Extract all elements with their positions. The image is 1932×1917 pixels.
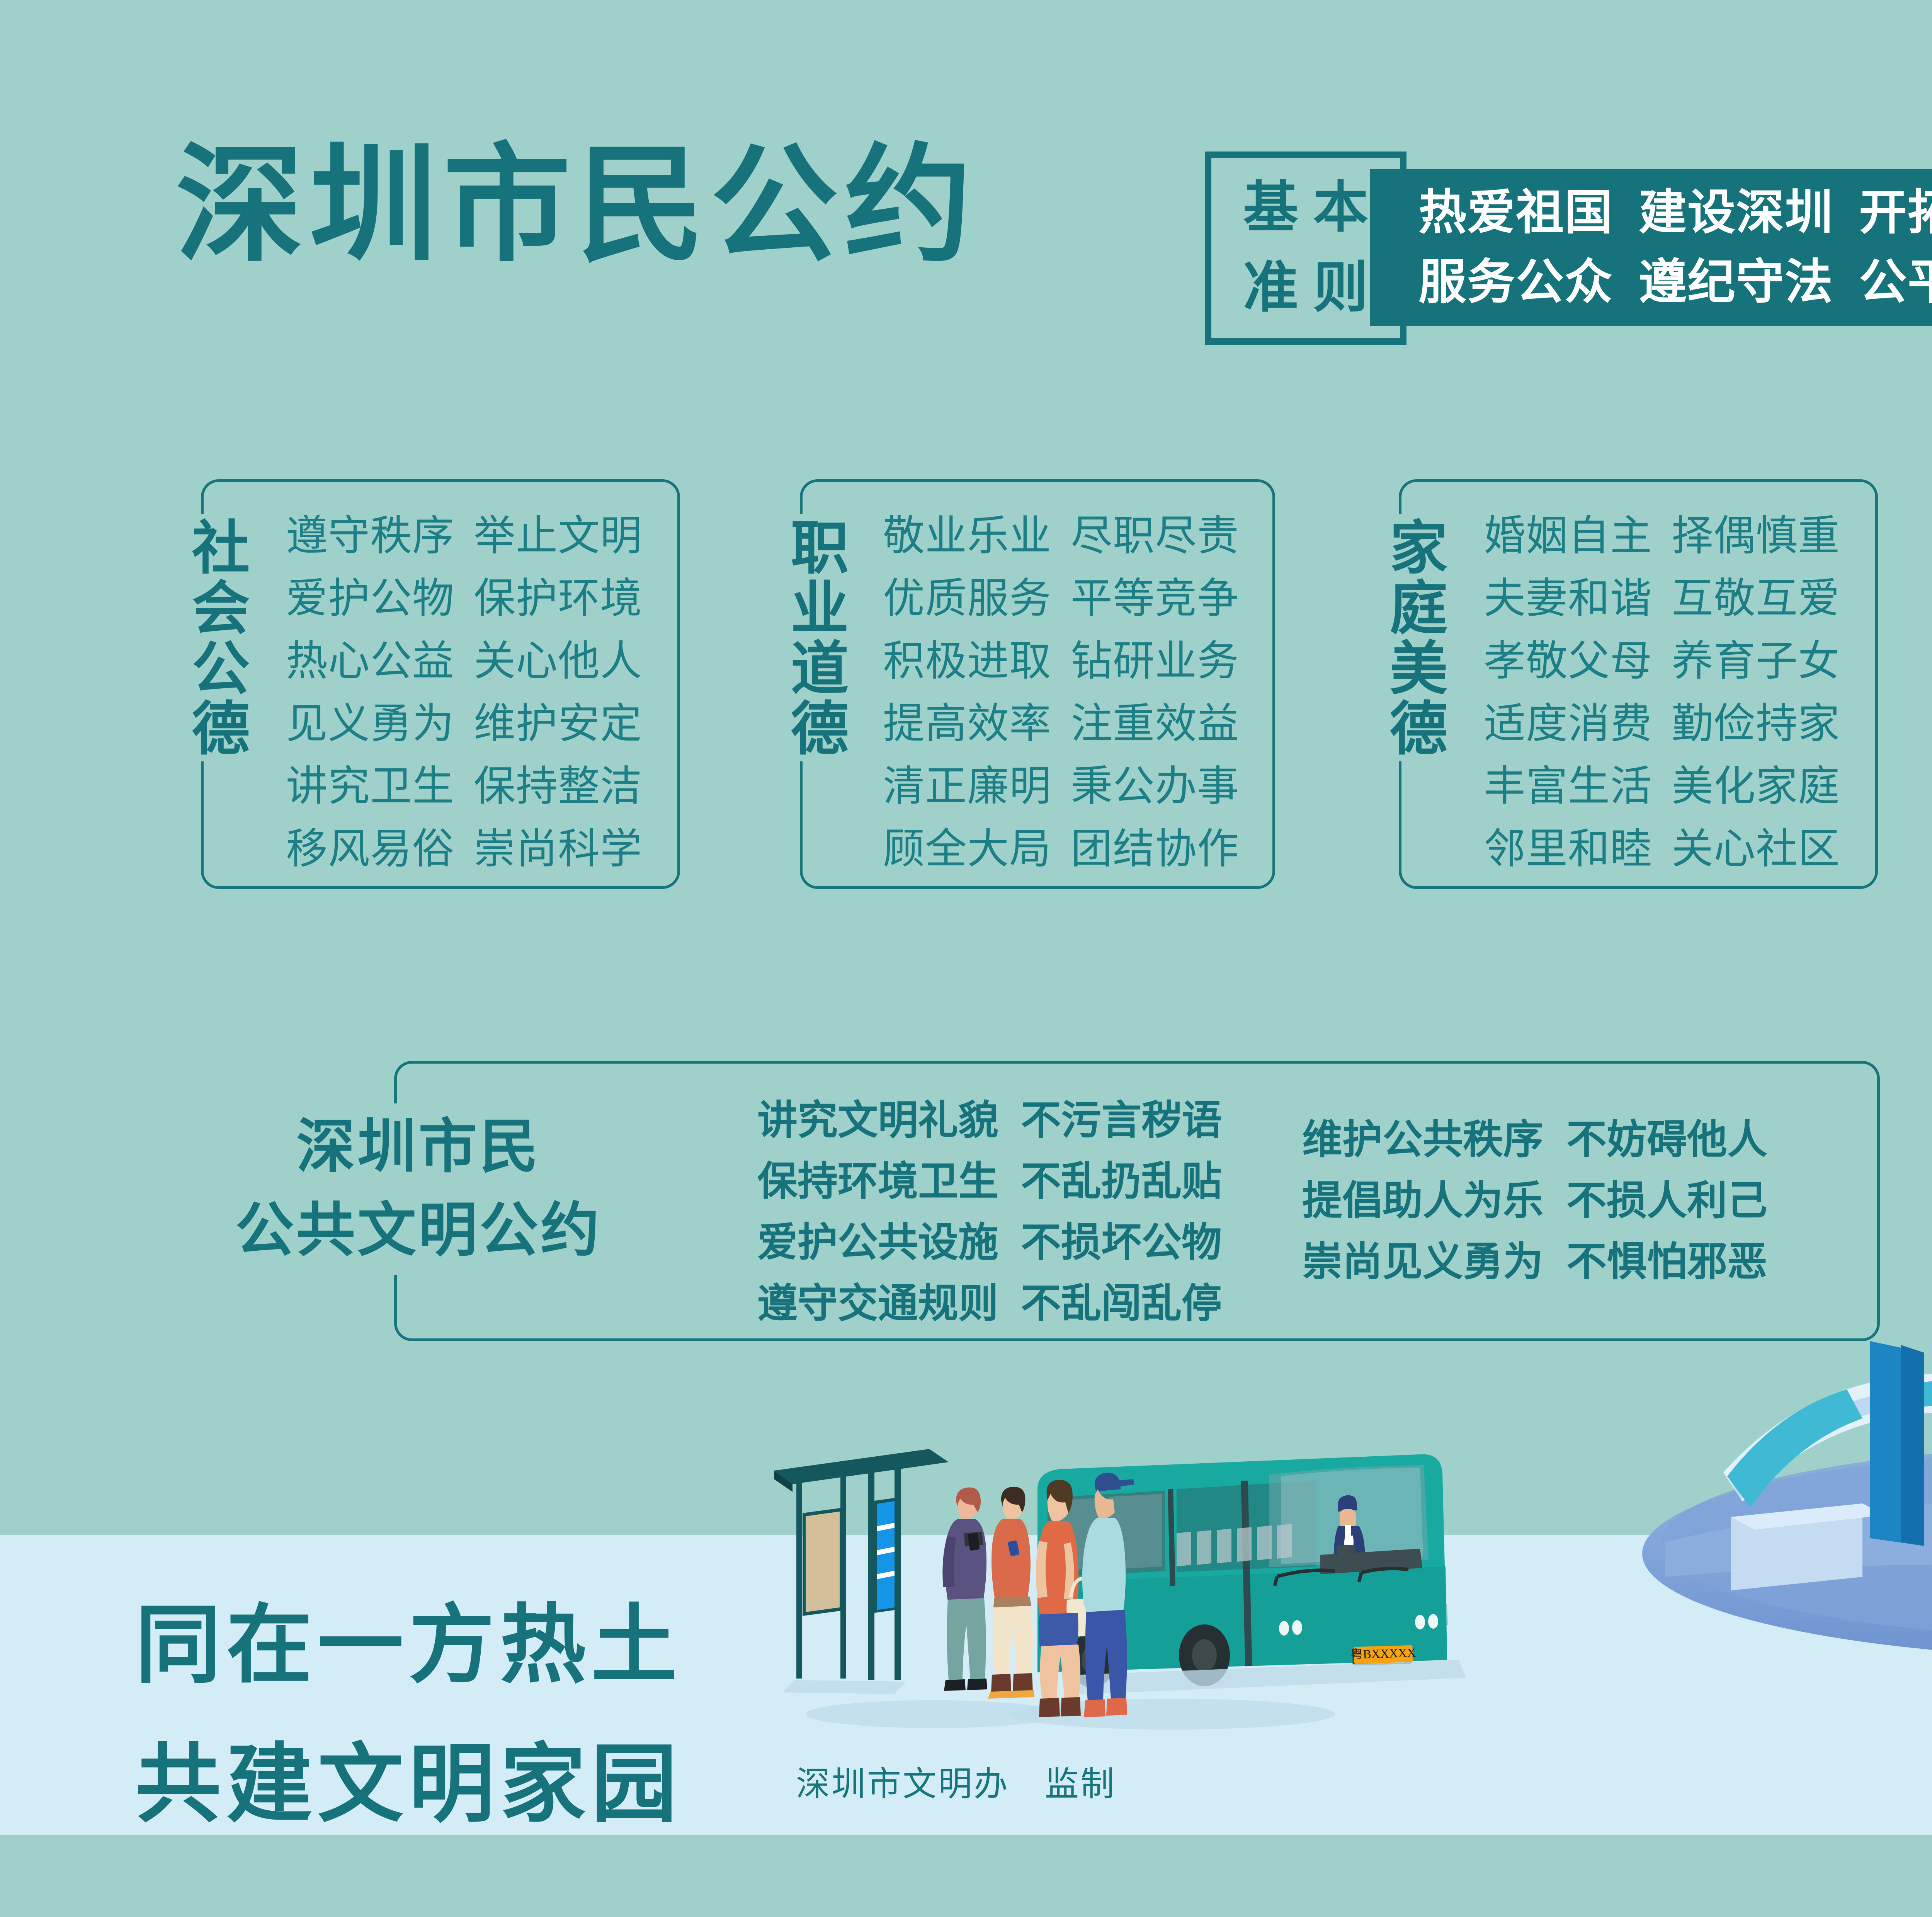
poster-canvas: 粤BXXXXX bbox=[0, 0, 1932, 1917]
virtue-item: 顾全大局 bbox=[883, 817, 1051, 880]
pact-right-col2: 不妨碍他人 不损人利己 不惧怕邪恶 bbox=[1566, 1109, 1767, 1292]
pact-left-col2: 不污言秽语 不乱扔乱贴 不损坏公物 不乱闯乱停 bbox=[1021, 1090, 1222, 1334]
queue-person-1-man-purple-jacket bbox=[942, 1488, 987, 1691]
virtue-col-left-social-morality: 遵守秩序 爱护公物 热心公益 见义勇为 讲究卫生 移风易俗 bbox=[286, 504, 454, 880]
public-civility-pact-label: 深圳市民 公共文明公约 bbox=[230, 1103, 607, 1275]
virtue-item: 美化家庭 bbox=[1672, 755, 1840, 817]
basic-principles-line1: 基本 bbox=[1228, 168, 1383, 248]
virtue-item: 团结协作 bbox=[1071, 817, 1239, 880]
virtue-item: 钻研业务 bbox=[1071, 630, 1239, 692]
queue-person-2-woman-orange-top bbox=[988, 1487, 1034, 1699]
virtue-col-right-social-morality: 举止文明 保护环境 关心他人 维护安定 保持整洁 崇尚科学 bbox=[474, 504, 642, 880]
virtue-item: 敬业乐业 bbox=[883, 504, 1051, 567]
virtue-item: 爱护公物 bbox=[286, 567, 454, 630]
virtue-item: 清正廉明 bbox=[883, 755, 1051, 817]
virtue-item: 平等竞争 bbox=[1071, 567, 1239, 630]
virtue-card-label-social-morality: 社会公德 bbox=[176, 514, 255, 761]
virtue-item: 热心公益 bbox=[286, 630, 454, 692]
virtue-item: 移风易俗 bbox=[286, 817, 454, 880]
principles-banner-row-1: 热爱祖国 建设深圳 开拓创新 团结奉献 敬业尽职 bbox=[1418, 178, 1932, 248]
banner-item: 开拓创新 bbox=[1859, 178, 1932, 248]
virtue-item: 保持整洁 bbox=[474, 755, 642, 817]
virtue-col-left-professional-ethics: 敬业乐业 优质服务 积极进取 提高效率 清正廉明 顾全大局 bbox=[883, 504, 1051, 880]
pact-item: 维护公共秩序 bbox=[1302, 1109, 1543, 1170]
basic-principles-line2: 准则 bbox=[1228, 248, 1383, 328]
pact-left-col1: 讲究文明礼貌 保持环境卫生 爱护公共设施 遵守交通规则 bbox=[757, 1090, 998, 1334]
virtue-item: 养育子女 bbox=[1672, 630, 1840, 692]
pact-right-col1: 维护公共秩序 提倡助人为乐 崇尚见义勇为 bbox=[1302, 1109, 1543, 1292]
banner-item: 公平竞争 bbox=[1859, 248, 1932, 317]
pact-item: 提倡助人为乐 bbox=[1302, 1170, 1543, 1231]
basic-principles-box: 基本 准则 bbox=[1205, 152, 1406, 345]
virtue-col-right-family-virtue: 择偶慎重 互敬互爱 养育子女 勤俭持家 美化家庭 关心社区 bbox=[1672, 504, 1840, 880]
footer-slogan-line2: 共建文明家园 bbox=[135, 1716, 682, 1855]
virtue-item: 勤俭持家 bbox=[1672, 692, 1840, 755]
virtue-item: 讲究卫生 bbox=[286, 755, 454, 817]
virtue-item: 崇尚科学 bbox=[474, 817, 642, 880]
virtue-item: 孝敬父母 bbox=[1484, 630, 1652, 692]
poster-title: 深圳市民公约 bbox=[176, 143, 978, 271]
virtue-col-right-professional-ethics: 尽职尽责 平等竞争 钻研业务 注重效益 秉公办事 团结协作 bbox=[1071, 504, 1239, 880]
banner-item: 热爱祖国 bbox=[1418, 178, 1613, 248]
virtue-item: 提高效率 bbox=[883, 692, 1051, 755]
footer-credit: 深圳市文明办 监制 bbox=[796, 1757, 1116, 1806]
pact-right-group: 维护公共秩序 提倡助人为乐 崇尚见义勇为 不妨碍他人 不损人利己 不惧怕邪恶 bbox=[1302, 1109, 1767, 1292]
pact-label-line1: 深圳市民 bbox=[235, 1106, 602, 1189]
virtue-item: 关心社区 bbox=[1672, 817, 1840, 880]
virtue-item: 积极进取 bbox=[883, 630, 1051, 692]
pact-left-group: 讲究文明礼貌 保持环境卫生 爱护公共设施 遵守交通规则 不污言秽语 不乱扔乱贴 … bbox=[757, 1090, 1222, 1334]
virtue-item: 注重效益 bbox=[1071, 692, 1239, 755]
virtue-item: 适度消费 bbox=[1484, 692, 1652, 755]
pact-item: 爱护公共设施 bbox=[757, 1212, 998, 1273]
virtue-item: 关心他人 bbox=[474, 630, 642, 692]
banner-item: 建设深圳 bbox=[1639, 178, 1833, 248]
virtue-item: 维护安定 bbox=[474, 692, 642, 755]
pact-item: 不妨碍他人 bbox=[1566, 1109, 1767, 1170]
principles-banner-row-2: 服务公众 遵纪守法 公平竞争 文明礼貌 爱护环境 bbox=[1418, 248, 1932, 317]
pact-item: 不乱扔乱贴 bbox=[1021, 1151, 1222, 1212]
bus-license-plate-text: 粤BXXXXX bbox=[1350, 1646, 1416, 1662]
virtue-card-label-family-virtue: 家庭美德 bbox=[1374, 514, 1452, 761]
virtue-item: 邻里和睦 bbox=[1484, 817, 1652, 880]
banner-item: 服务公众 bbox=[1418, 248, 1613, 317]
virtue-item: 保护环境 bbox=[474, 567, 642, 630]
pact-item: 不惧怕邪恶 bbox=[1566, 1231, 1767, 1292]
virtue-item: 互敬互爱 bbox=[1672, 567, 1840, 630]
pact-item: 讲究文明礼貌 bbox=[757, 1090, 998, 1151]
virtue-item: 遵守秩序 bbox=[286, 504, 454, 567]
pact-label-line2: 公共文明公约 bbox=[235, 1189, 602, 1273]
banner-item: 遵纪守法 bbox=[1639, 248, 1833, 317]
virtue-card-label-professional-ethics: 职业道德 bbox=[775, 514, 854, 761]
virtue-item: 丰富生活 bbox=[1484, 755, 1652, 817]
pact-item: 不损人利己 bbox=[1566, 1170, 1767, 1231]
virtue-item: 婚姻自主 bbox=[1484, 504, 1652, 567]
pact-item: 不损坏公物 bbox=[1021, 1212, 1222, 1273]
pact-item: 崇尚见义勇为 bbox=[1302, 1231, 1543, 1292]
virtue-item: 举止文明 bbox=[474, 504, 642, 567]
virtue-item: 择偶慎重 bbox=[1672, 504, 1840, 567]
virtue-col-left-family-virtue: 婚姻自主 夫妻和谐 孝敬父母 适度消费 丰富生活 邻里和睦 bbox=[1484, 504, 1652, 880]
virtue-item: 见义勇为 bbox=[286, 692, 454, 755]
principles-banner: 热爱祖国 建设深圳 开拓创新 团结奉献 敬业尽职 服务公众 遵纪守法 公平竞争 … bbox=[1370, 169, 1932, 326]
footer-slogan-line1: 同在一方热土 bbox=[135, 1577, 682, 1716]
pact-item: 不污言秽语 bbox=[1021, 1090, 1222, 1151]
virtue-item: 夫妻和谐 bbox=[1484, 567, 1652, 630]
pact-item: 保持环境卫生 bbox=[757, 1151, 998, 1212]
pact-item: 遵守交通规则 bbox=[757, 1273, 998, 1334]
pact-item: 不乱闯乱停 bbox=[1021, 1273, 1222, 1334]
bridge-pillars bbox=[1870, 1341, 1932, 1554]
bus-stop-illustration: 粤BXXXXX bbox=[767, 1444, 1490, 1737]
bus-shelter bbox=[774, 1449, 949, 1694]
virtue-item: 尽职尽责 bbox=[1071, 504, 1239, 567]
footer-slogan: 同在一方热土 共建文明家园 bbox=[135, 1577, 682, 1855]
virtue-item: 优质服务 bbox=[883, 567, 1051, 630]
virtue-item: 秉公办事 bbox=[1071, 755, 1239, 817]
